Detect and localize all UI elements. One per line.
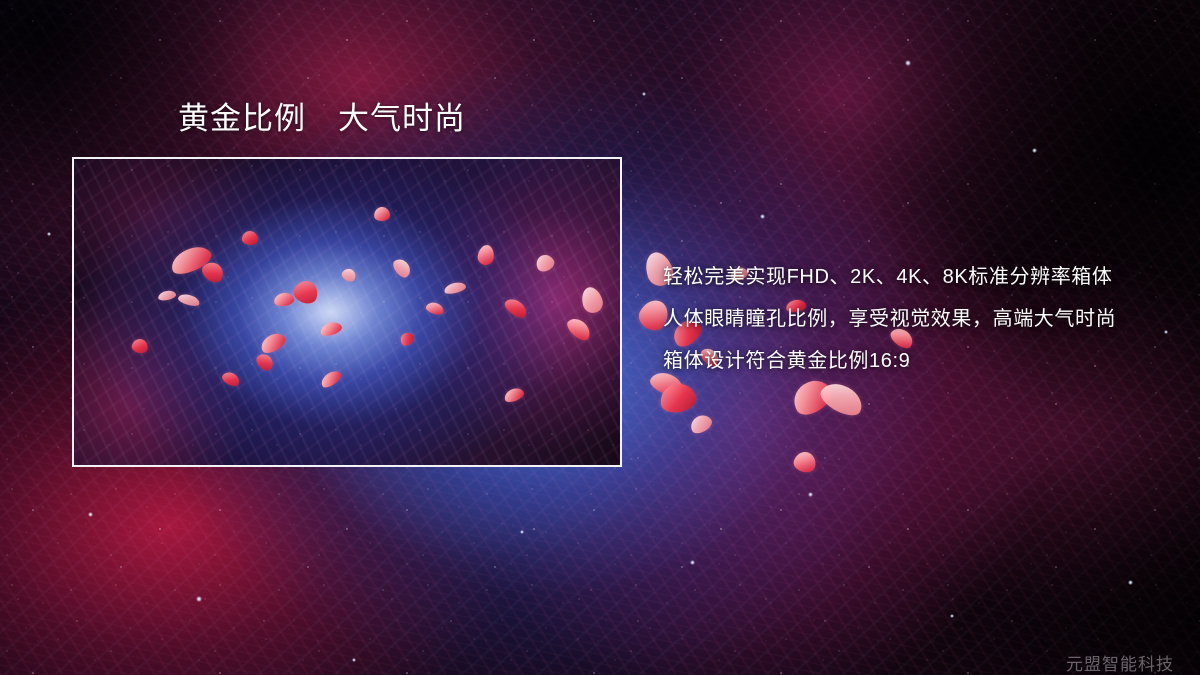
description-line: 人体眼睛瞳孔比例，享受视觉效果，高端大气时尚 [663, 298, 1173, 340]
framed-image [72, 157, 622, 467]
page-title: 黄金比例 大气时尚 [178, 102, 466, 136]
description-line: 箱体设计符合黄金比例16:9 [663, 340, 1173, 382]
petal [687, 412, 714, 437]
petal [792, 449, 819, 474]
photo-content [74, 159, 620, 465]
presentation-slide: 黄金比例 大气时尚 轻松完美实现FHD、2K、4K、8K标准分辨率箱体 人体眼睛… [0, 0, 1200, 675]
watermark: 元盟智能科技 [1066, 650, 1174, 675]
description-block: 轻松完美实现FHD、2K、4K、8K标准分辨率箱体 人体眼睛瞳孔比例，享受视觉效… [663, 256, 1173, 382]
description-line: 轻松完美实现FHD、2K、4K、8K标准分辨率箱体 [663, 256, 1173, 298]
photo-starfield [74, 159, 620, 465]
